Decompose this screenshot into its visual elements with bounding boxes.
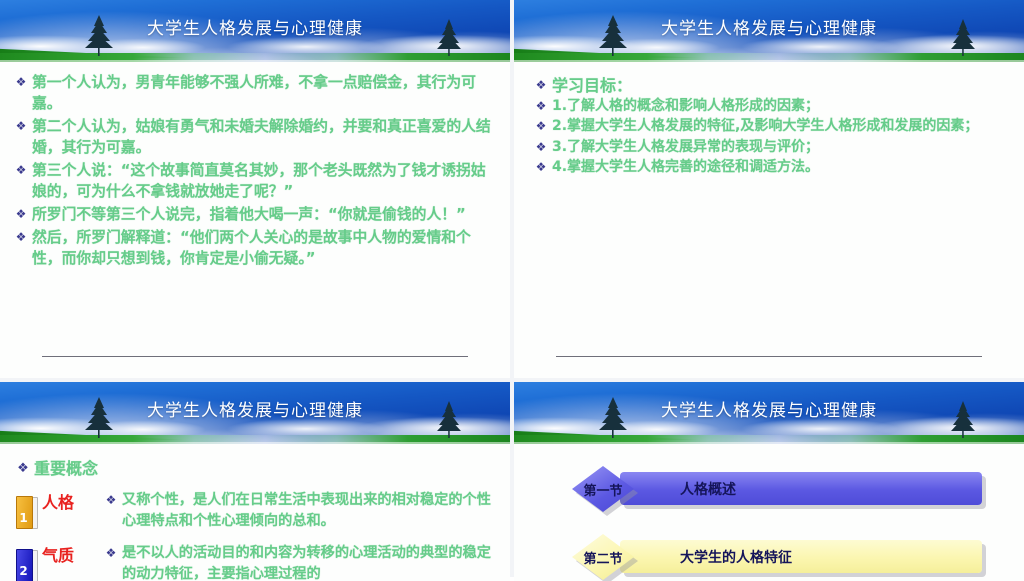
- list-item: ❖ 第一个人认为，男青年能够不强人所难，不拿一点赔偿金，其行为可嘉。: [14, 72, 498, 114]
- slide-2-body: ❖ 学习目标： ❖ 1.了解人格的概念和影响人格形成的因素； ❖ 2.掌握大学生…: [514, 62, 1024, 378]
- slide-1-divider: [42, 356, 468, 357]
- concept-term: 气质: [42, 543, 104, 567]
- cloud-band: [514, 31, 1024, 53]
- bullet-diamond-icon: ❖: [14, 204, 28, 224]
- bullet-diamond-icon: ❖: [14, 160, 28, 180]
- slide-1-banner: 大学生人格发展与心理健康: [0, 0, 510, 62]
- bullet-diamond-icon: ❖: [104, 543, 118, 564]
- bullet-text: 所罗门不等第三个人说完，指着他大喝一声：“你就是偷钱的人！”: [32, 204, 466, 225]
- bullet-text: 3.了解大学生人格发展异常的表现与评价；: [552, 138, 819, 158]
- pine-tree-icon: [950, 400, 976, 438]
- slide-1-bullet-list: ❖ 第一个人认为，男青年能够不强人所难，不拿一点赔偿金，其行为可嘉。 ❖ 第二个…: [14, 72, 498, 269]
- section-diamond[interactable]: 第二节: [572, 534, 634, 580]
- bullet-text: 第三个人说：“这个故事简直莫名其妙，那个老头既然为了钱才诱拐姑娘的，可为什么不拿…: [32, 160, 498, 202]
- concept-description-row: ❖ 是不以人的活动目的和内容为转移的心理活动的典型的稳定的动力特征，主要指心理过…: [104, 543, 500, 581]
- bullet-diamond-icon: ❖: [534, 158, 548, 178]
- pine-tree-icon: [598, 14, 628, 56]
- slide-2-bullet-list: ❖ 学习目标： ❖ 1.了解人格的概念和影响人格形成的因素； ❖ 2.掌握大学生…: [534, 76, 1012, 178]
- slide-1-body: ❖ 第一个人认为，男青年能够不强人所难，不拿一点赔偿金，其行为可嘉。 ❖ 第二个…: [0, 62, 510, 378]
- bullet-diamond-icon: ❖: [534, 97, 548, 117]
- section-row-1[interactable]: 人格概述 第一节: [572, 466, 982, 512]
- concept-row: 1 人格 ❖ 又称个性，是人们在日常生活中表现出来的相对稳定的个性心理特点和个性…: [16, 490, 500, 531]
- slide-2-divider: [556, 356, 982, 357]
- bullet-diamond-icon: ❖: [534, 117, 548, 137]
- concept-description-row: ❖ 又称个性，是人们在日常生活中表现出来的相对稳定的个性心理特点和个性心理倾向的…: [104, 490, 500, 531]
- bullet-diamond-icon: ❖: [14, 116, 28, 136]
- concept-description: 是不以人的活动目的和内容为转移的心理活动的典型的稳定的动力特征，主要指心理过程的: [122, 543, 500, 581]
- list-item-heading: ❖ 学习目标：: [534, 76, 1012, 96]
- slide-4-banner: 大学生人格发展与心理健康: [514, 382, 1024, 444]
- bullet-diamond-icon: ❖: [16, 458, 30, 480]
- section-label: 人格概述: [680, 472, 736, 505]
- slide-deck-grid: 大学生人格发展与心理健康 ❖ 第一个人认为，男青年能够不强人所难，不拿一点赔偿金…: [0, 0, 1024, 577]
- section-label: 大学生的人格特征: [680, 540, 792, 573]
- bullet-diamond-icon: ❖: [534, 138, 548, 158]
- bullet-text: 第一个人认为，男青年能够不强人所难，不拿一点赔偿金，其行为可嘉。: [32, 72, 498, 114]
- list-item: ❖ 第三个人说：“这个故事简直莫名其妙，那个老头既然为了钱才诱拐姑娘的，可为什么…: [14, 160, 498, 202]
- bullet-text: 然后，所罗门解释道：“他们两个人关心的是故事中人物的爱情和个性，而你却只想到钱，…: [32, 227, 498, 269]
- list-item: ❖ 2.掌握大学生人格发展的特征,及影响大学生人格形成和发展的因素；: [534, 117, 1012, 137]
- numbered-page-icon: 1: [16, 496, 36, 530]
- section-diamond[interactable]: 第一节: [572, 466, 634, 512]
- list-item: ❖ 4.掌握大学生人格完善的途径和调适方法。: [534, 158, 1012, 178]
- slide-4[interactable]: 大学生人格发展与心理健康 人格概述 第一节 大学生的人格特征 第二节: [514, 382, 1024, 581]
- cloud-band: [0, 31, 510, 53]
- slide-3-banner: 大学生人格发展与心理健康: [0, 382, 510, 444]
- concept-description: 又称个性，是人们在日常生活中表现出来的相对稳定的个性心理特点和个性心理倾向的总和…: [122, 490, 500, 531]
- list-item: ❖ 所罗门不等第三个人说完，指着他大喝一声：“你就是偷钱的人！”: [14, 204, 498, 225]
- list-item: ❖ 第二个人认为，姑娘有勇气和未婚夫解除婚约，并要和真正喜爱的人结婚，其行为可嘉…: [14, 116, 498, 158]
- slide-2-heading: 学习目标：: [552, 76, 632, 96]
- slide-1[interactable]: 大学生人格发展与心理健康 ❖ 第一个人认为，男青年能够不强人所难，不拿一点赔偿金…: [0, 0, 510, 378]
- bullet-text: 4.掌握大学生人格完善的途径和调适方法。: [552, 158, 819, 178]
- bullet-diamond-icon: ❖: [104, 490, 118, 511]
- cloud-band: [0, 413, 510, 435]
- slide-3-body: ❖ 重要概念 1 人格 ❖ 又称个性，是人们在日常生活中表现出来的相对稳定的个性…: [0, 444, 510, 581]
- pine-tree-icon: [436, 400, 462, 438]
- list-item: ❖ 3.了解大学生人格发展异常的表现与评价；: [534, 138, 1012, 158]
- slide-2[interactable]: 大学生人格发展与心理健康 ❖ 学习目标： ❖ 1.了解人格的概念和影响人格形成的…: [514, 0, 1024, 378]
- concept-number: 1: [16, 496, 31, 527]
- bullet-text: 2.掌握大学生人格发展的特征,及影响大学生人格形成和发展的因素；: [552, 117, 978, 137]
- pine-tree-icon: [84, 14, 114, 56]
- slide-4-body: 人格概述 第一节 大学生的人格特征 第二节: [514, 444, 1024, 581]
- numbered-page-icon: 2: [16, 549, 36, 581]
- pine-tree-icon: [598, 396, 628, 438]
- bullet-diamond-icon: ❖: [534, 76, 548, 96]
- pine-tree-icon: [436, 18, 462, 56]
- section-tag: 第一节: [572, 466, 634, 512]
- section-tag: 第二节: [572, 534, 634, 580]
- slide-3[interactable]: 大学生人格发展与心理健康 ❖ 重要概念 1 人格 ❖ 又称个性，是人们在日常生活…: [0, 382, 510, 581]
- concept-number: 2: [16, 549, 31, 580]
- slide-3-heading-row: ❖ 重要概念: [16, 458, 500, 480]
- bullet-diamond-icon: ❖: [14, 227, 28, 247]
- bullet-text: 1.了解人格的概念和影响人格形成的因素；: [552, 97, 819, 117]
- concept-term: 人格: [42, 490, 104, 514]
- section-row-2[interactable]: 大学生的人格特征 第二节: [572, 534, 982, 580]
- list-item: ❖ 1.了解人格的概念和影响人格形成的因素；: [534, 97, 1012, 117]
- list-item: ❖ 然后，所罗门解释道：“他们两个人关心的是故事中人物的爱情和个性，而你却只想到…: [14, 227, 498, 269]
- bullet-diamond-icon: ❖: [14, 72, 28, 92]
- pine-tree-icon: [950, 18, 976, 56]
- bullet-text: 第二个人认为，姑娘有勇气和未婚夫解除婚约，并要和真正喜爱的人结婚，其行为可嘉。: [32, 116, 498, 158]
- section-bar[interactable]: 大学生的人格特征: [620, 540, 982, 573]
- slide-3-heading: 重要概念: [34, 458, 98, 480]
- section-bar[interactable]: 人格概述: [620, 472, 982, 505]
- cloud-band: [514, 413, 1024, 435]
- slide-2-banner: 大学生人格发展与心理健康: [514, 0, 1024, 62]
- pine-tree-icon: [84, 396, 114, 438]
- concept-row: 2 气质 ❖ 是不以人的活动目的和内容为转移的心理活动的典型的稳定的动力特征，主…: [16, 543, 500, 581]
